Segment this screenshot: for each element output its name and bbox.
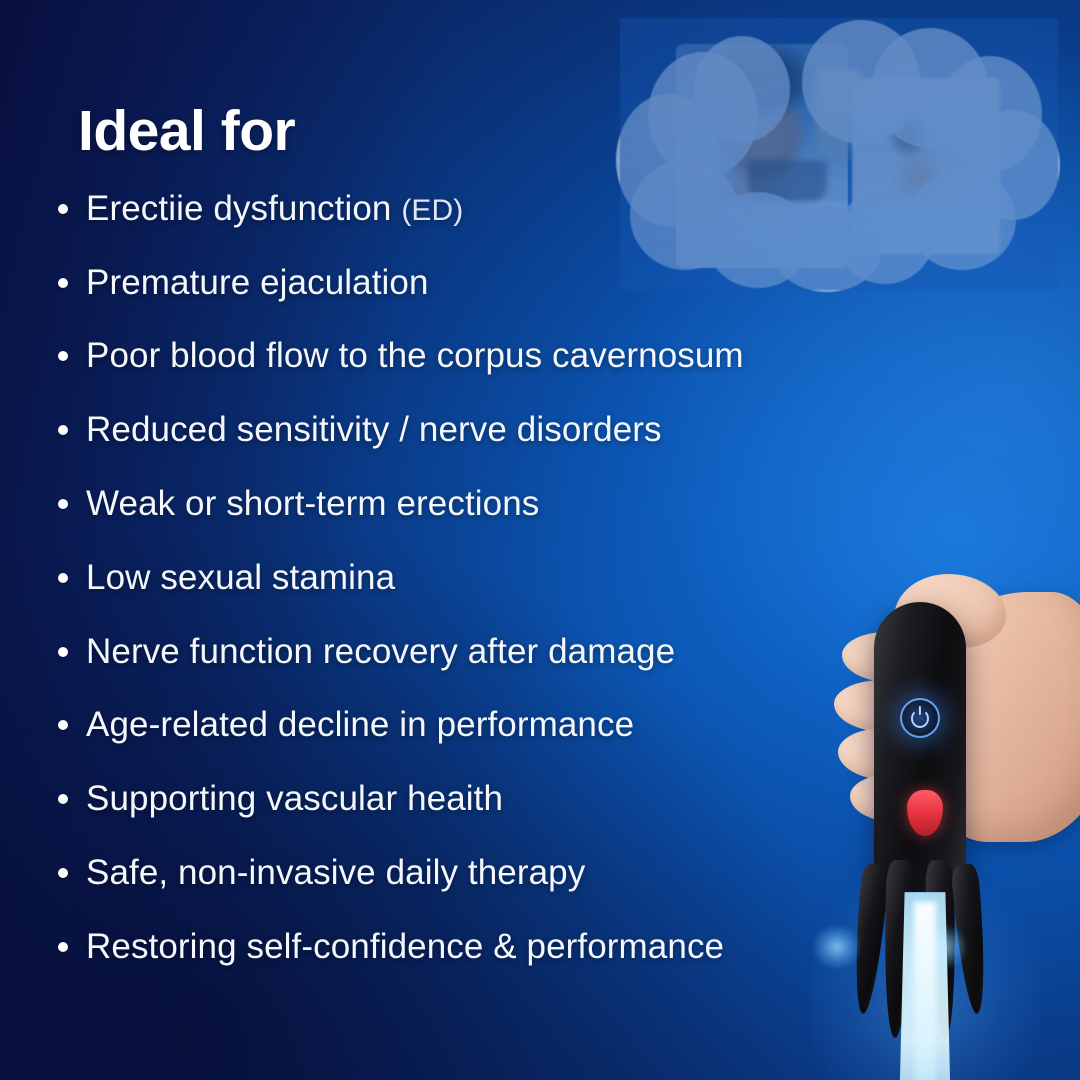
list-item-label: Low sexual stamina (86, 558, 395, 598)
benefit-list: Erectiie dysfunction (ED) Premature ejac… (58, 172, 858, 984)
list-item: Premature ejaculation (58, 246, 858, 320)
list-item-label: Weak or short-term erections (86, 484, 539, 524)
list-item-label: Safe, non-invasive daily therapy (86, 853, 585, 893)
bullet-dot-icon (58, 499, 68, 509)
list-item: Low sexual stamina (58, 541, 858, 615)
bullet-dot-icon (58, 868, 68, 878)
list-item-label: Supporting vascular heaith (86, 779, 503, 819)
list-item: Nerve function recovery after damage (58, 615, 858, 689)
list-item-label: Erectiie dysfunction (ED) (86, 189, 463, 229)
list-item: Supporting vascular heaith (58, 762, 858, 836)
bullet-dot-icon (58, 942, 68, 952)
page-title: Ideal for (78, 98, 295, 164)
bullet-dot-icon (58, 425, 68, 435)
bullet-dot-icon (58, 278, 68, 288)
bullet-dot-icon (58, 351, 68, 361)
list-item: Poor blood flow to the corpus cavernosum (58, 320, 858, 394)
list-item-label: Premature ejaculation (86, 263, 429, 303)
bullet-dot-icon (58, 204, 68, 214)
handheld-therapy-device (770, 540, 1080, 1080)
energy-beam-core (914, 902, 936, 1080)
list-item: Reduced sensitivity / nerve disorders (58, 393, 858, 467)
list-item: Age-related decline in performance (58, 689, 858, 763)
list-item-label: Restoring self-confidence & performance (86, 927, 724, 967)
energy-arc-left (814, 926, 860, 968)
bullet-dot-icon (58, 573, 68, 583)
device-handle (874, 602, 966, 892)
list-item-label: Poor blood flow to the corpus cavernosum (86, 336, 744, 376)
list-item: Safe, non-invasive daily therapy (58, 836, 858, 910)
bullet-dot-icon (58, 794, 68, 804)
list-item-label: Reduced sensitivity / nerve disorders (86, 410, 662, 450)
list-item: Restoring self-confidence & performance (58, 910, 858, 984)
list-item: Erectiie dysfunction (ED) (58, 172, 858, 246)
list-item-label: Age-related decline in performance (86, 705, 634, 745)
list-item-label: Nerve function recovery after damage (86, 632, 675, 672)
power-icon (900, 698, 940, 738)
power-glyph (911, 709, 929, 728)
promo-graphic: Ideal for Erectiie dysfunction (ED) Prem… (0, 0, 1080, 1080)
bullet-dot-icon (58, 720, 68, 730)
list-item: Weak or short-term erections (58, 467, 858, 541)
bullet-dot-icon (58, 647, 68, 657)
